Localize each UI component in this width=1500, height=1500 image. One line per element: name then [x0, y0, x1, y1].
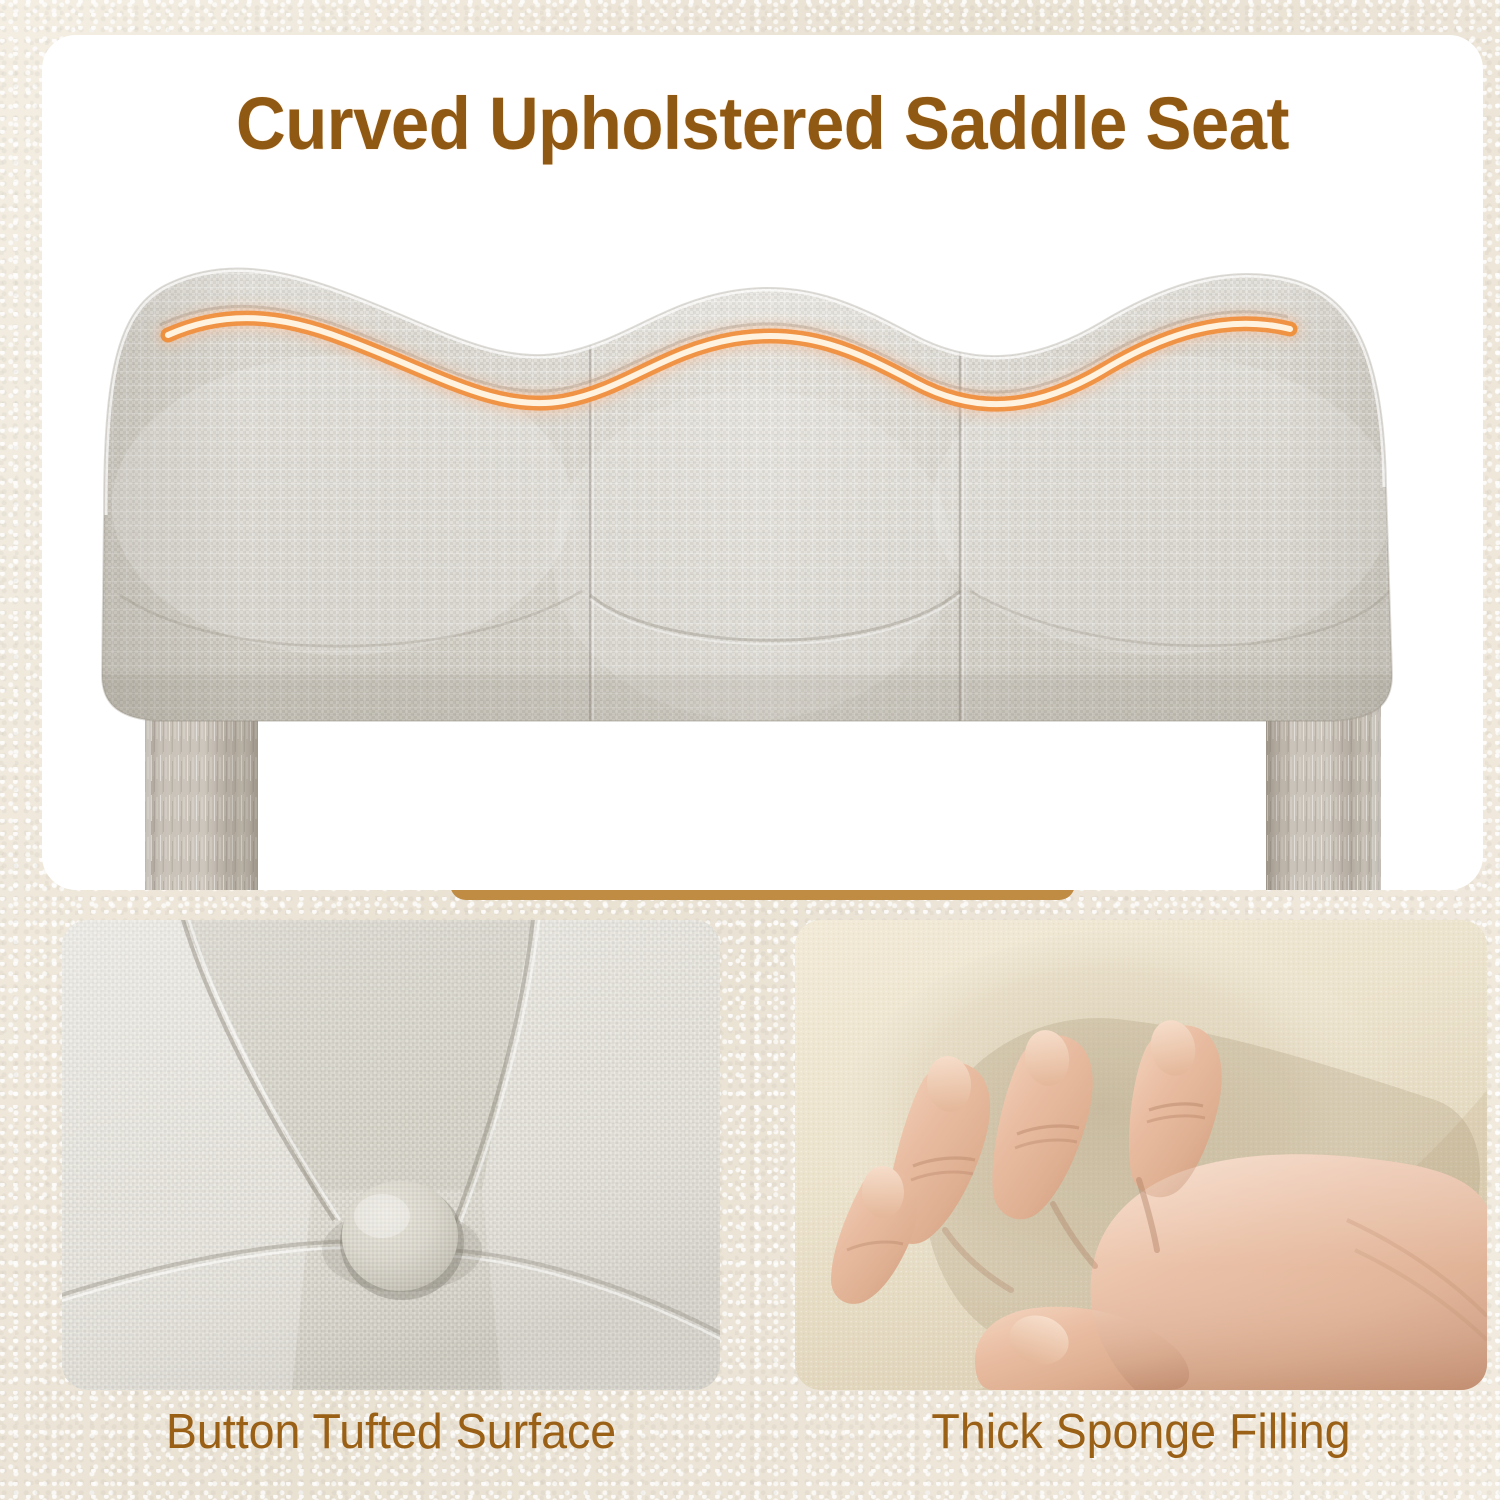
hero-card: Curved Upholstered Saddle Seat	[42, 35, 1483, 890]
panel-button-tufted-surface	[62, 920, 720, 1390]
stool-leg-left	[145, 695, 258, 890]
panel-thick-sponge-filling	[795, 920, 1487, 1390]
saddle-seat-photo	[42, 35, 1483, 890]
saddle-seat-cushion	[82, 235, 1442, 755]
stool-leg-right	[1266, 695, 1381, 890]
tufted-button-photo	[62, 920, 720, 1390]
hand-on-foam-photo	[795, 920, 1487, 1390]
caption-button-tufted-surface: Button Tufted Surface	[78, 1396, 703, 1468]
caption-thick-sponge-filling: Thick Sponge Filling	[812, 1396, 1469, 1468]
